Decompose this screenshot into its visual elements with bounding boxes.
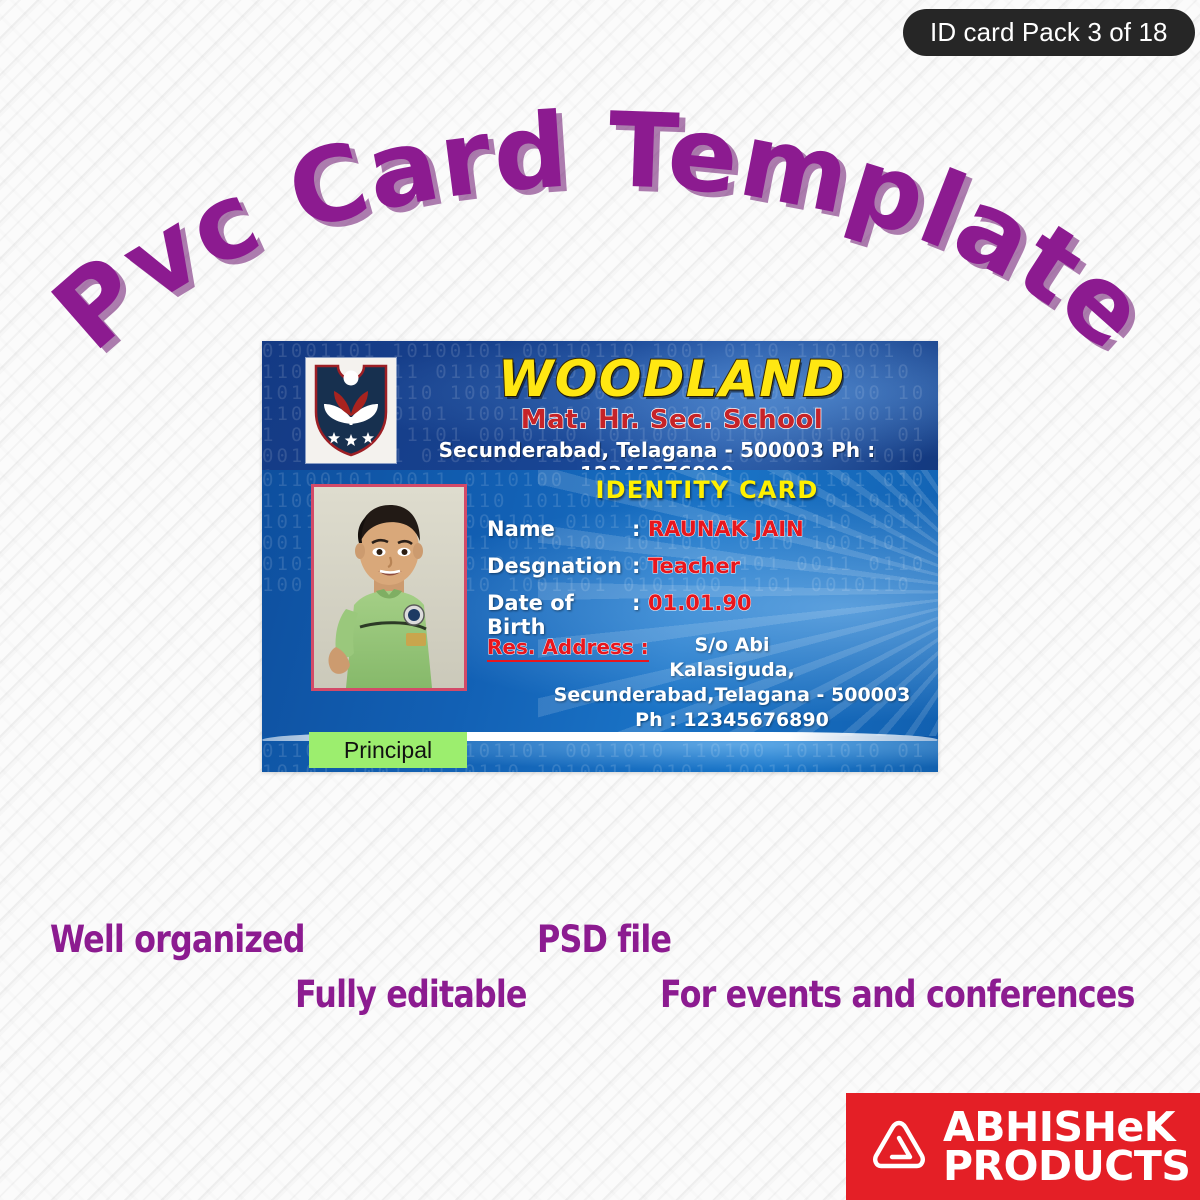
id-card: 01001101 10100101 00110110 1001 0110 110… xyxy=(262,341,938,772)
field-value-designation: Teacher xyxy=(648,554,740,578)
pack-badge: ID card Pack 3 of 18 xyxy=(903,9,1195,56)
field-row-designation: Desgnation : Teacher xyxy=(487,554,937,591)
school-address: Secunderabad, Telagana - 500003 Ph : 123… xyxy=(382,438,932,470)
headline-text: Pvc Card Template xyxy=(31,90,1170,373)
card-header: 01001101 10100101 00110110 1001 0110 110… xyxy=(262,341,938,470)
headline-main: Pvc Card Template xyxy=(31,90,1170,373)
field-list: Name : RAUNAK JAIN Desgnation : Teacher … xyxy=(487,517,937,628)
feature-fully-editable: Fully editable xyxy=(295,973,527,1016)
identity-card-title: IDENTITY CARD xyxy=(487,476,927,504)
school-name: WOODLAND xyxy=(412,353,932,405)
headline-shadow: Pvc Card Template xyxy=(37,95,1176,378)
abhishek-triangle-logo-icon xyxy=(868,1116,930,1178)
card-body: 01100101 0011 0110100 1011010 0110 10011… xyxy=(262,470,938,736)
signature-label: Principal xyxy=(344,737,432,764)
address-value: S/o Abi Kalasiguda, Secunderabad,Telagan… xyxy=(532,633,932,733)
field-label-dob: Date of Birth xyxy=(487,591,632,639)
feature-well-organized: Well organized xyxy=(50,918,305,961)
pack-badge-label: ID card Pack 3 of 18 xyxy=(930,17,1168,48)
headline-shadow-text: Pvc Card Template xyxy=(37,95,1176,378)
field-row-name: Name : RAUNAK JAIN xyxy=(487,517,937,554)
brand-wordmark: ABHISHeK PRODUCTS xyxy=(943,1108,1190,1184)
field-row-dob: Date of Birth : 01.01.90 xyxy=(487,591,937,628)
field-separator-designation: : xyxy=(632,554,648,578)
feature-events: For events and conferences xyxy=(660,973,1135,1016)
field-value-dob: 01.01.90 xyxy=(648,591,752,615)
field-label-name: Name xyxy=(487,517,632,541)
field-value-name: RAUNAK JAIN xyxy=(648,517,804,541)
school-subtitle: Mat. Hr. Sec. School xyxy=(412,405,932,435)
headline-arc: Pvc Card Template Pvc Card Template xyxy=(0,88,1200,358)
field-separator-dob: : xyxy=(632,591,648,615)
brand-line-2: PRODUCTS xyxy=(943,1147,1190,1185)
field-label-designation: Desgnation xyxy=(487,554,632,578)
brand-logo: ABHISHeK PRODUCTS xyxy=(846,1093,1200,1200)
feature-psd-file: PSD file xyxy=(537,918,671,961)
student-photo xyxy=(311,484,467,691)
field-separator-name: : xyxy=(632,517,648,541)
signature-chip: Principal xyxy=(309,732,467,768)
